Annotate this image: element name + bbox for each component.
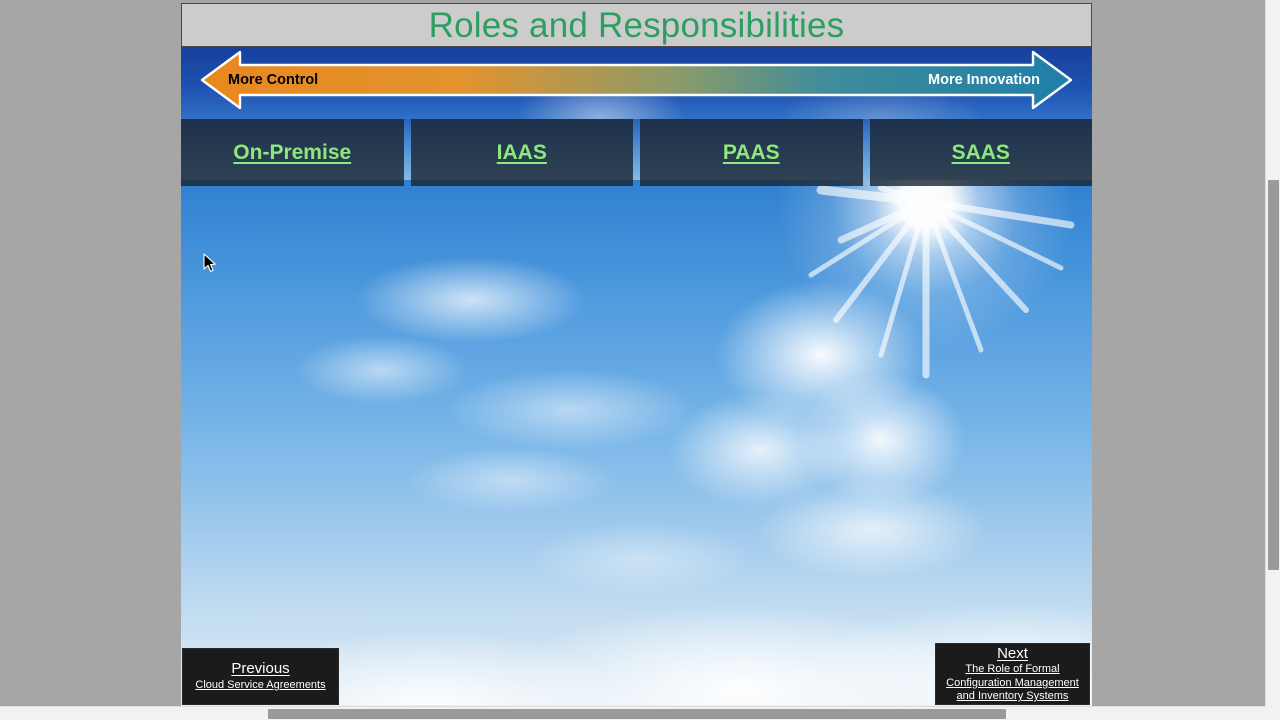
next-nav-subtitle-line2: Configuration Management: [942, 677, 1083, 690]
page-title: Roles and Responsibilities: [429, 8, 845, 43]
tab-paas-label: PAAS: [723, 142, 780, 163]
next-nav-subtitle-line1: The Role of Formal: [961, 663, 1063, 676]
tab-iaas-label: IAAS: [497, 142, 547, 163]
presentation-slide: Roles and Responsibilities: [181, 0, 1092, 711]
spectrum-left-label: More Control: [228, 73, 318, 88]
tab-saas[interactable]: SAAS: [870, 119, 1093, 186]
scrollbar-corner: [1265, 706, 1280, 720]
arrow-cursor: [203, 253, 217, 273]
page-root: Roles and Responsibilities: [0, 0, 1280, 720]
vertical-scrollbar-thumb[interactable]: [1268, 180, 1279, 570]
vertical-scrollbar[interactable]: [1265, 0, 1280, 706]
tab-saas-label: SAAS: [952, 142, 1010, 163]
service-model-tabs: On-Premise IAAS PAAS SAAS: [181, 119, 1092, 186]
next-nav-subtitle-line3: and Inventory Systems: [953, 690, 1073, 703]
horizontal-scrollbar-thumb[interactable]: [268, 709, 1006, 719]
spectrum-arrow: More Control More Innovation: [200, 47, 1073, 113]
next-nav-button[interactable]: Next The Role of Formal Configuration Ma…: [935, 643, 1090, 705]
tab-on-premise[interactable]: On-Premise: [181, 119, 404, 186]
previous-nav-subtitle: Cloud Service Agreements: [191, 679, 329, 693]
previous-nav-button[interactable]: Previous Cloud Service Agreements: [182, 648, 339, 705]
spectrum-right-label: More Innovation: [928, 73, 1040, 88]
previous-nav-title: Previous: [231, 660, 289, 679]
next-nav-title: Next: [997, 645, 1028, 664]
tab-paas[interactable]: PAAS: [640, 119, 863, 186]
horizontal-scrollbar[interactable]: [0, 706, 1280, 720]
slide-title-bar: Roles and Responsibilities: [181, 3, 1092, 47]
tab-iaas[interactable]: IAAS: [411, 119, 634, 186]
tab-on-premise-label: On-Premise: [233, 142, 351, 163]
sky-photo-area: [181, 180, 1092, 711]
